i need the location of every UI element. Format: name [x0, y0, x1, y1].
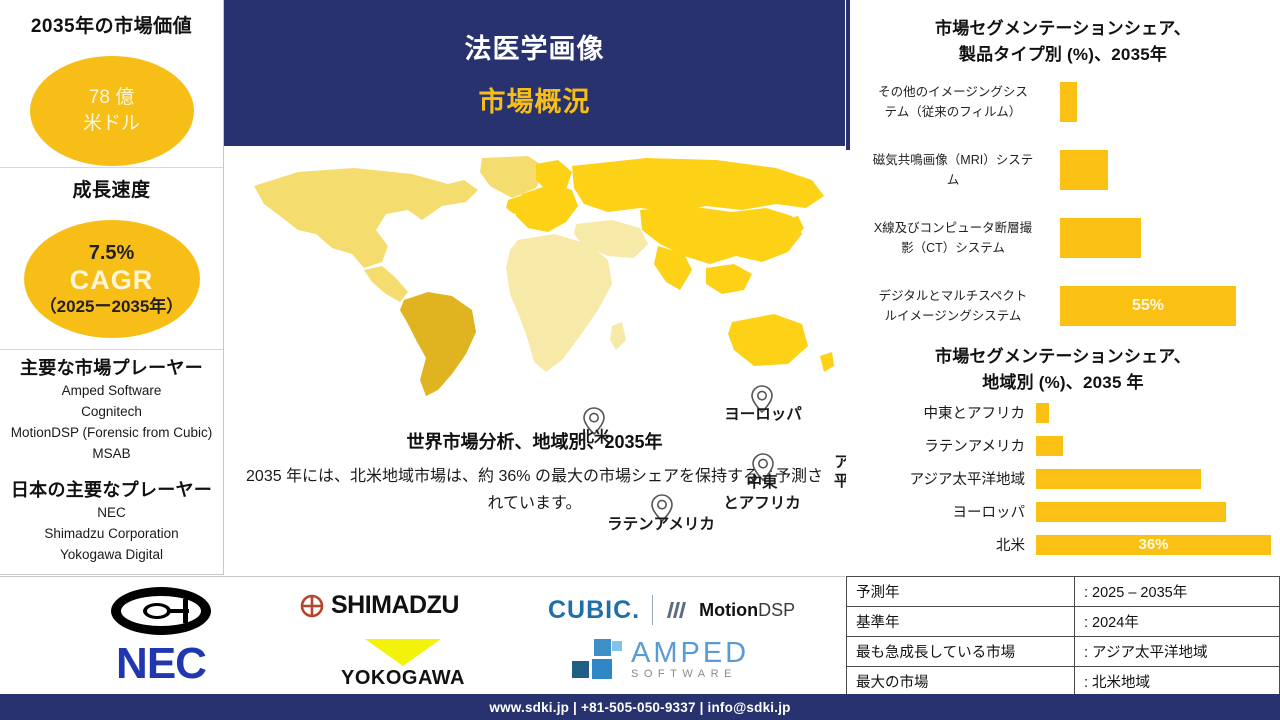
logo-nec: NEC	[86, 585, 236, 686]
world-map: 北米 ヨーロッパ アジア太 平洋地域 中東 とアフリカ ラテンアメリカ	[224, 150, 845, 422]
chart-category-label: ラテンアメリカ	[846, 435, 1036, 456]
japan-player-item: Yokogawa Digital	[0, 544, 223, 565]
table-row: 最も急成長している市場 : アジア太平洋地域	[847, 637, 1280, 667]
region-chart: 市場セグメンテーションシェア、 地域別 (%)、2035 年 中東とアフリカ ラ…	[846, 342, 1280, 561]
chart-category-label: X線及びコンピュータ断層撮 影（CT）システム	[846, 218, 1060, 258]
key-players-block: 主要な市場プレーヤー Amped Software Cognitech Moti…	[0, 350, 223, 472]
logo-cubic-motiondsp: CUBIC. MotionDSP	[548, 595, 795, 625]
chart-category-label: その他のイメージングシス テム（従来のフィルム）	[846, 82, 1060, 122]
map-region-madagascar	[610, 322, 626, 350]
growth-rate-title: 成長速度	[0, 168, 223, 202]
cubic-wordmark: CUBIC.	[548, 596, 640, 625]
chart-bar	[1060, 82, 1077, 122]
japan-player-item: Shimadzu Corporation	[0, 523, 223, 544]
motiondsp-wordmark: MotionDSP	[699, 600, 795, 621]
market-value-title: 2035年の市場価値	[0, 0, 223, 38]
map-region-africa	[506, 234, 612, 372]
table-cell-value: : 2024年	[1075, 607, 1280, 637]
chart-bar	[1036, 469, 1201, 489]
map-caption-title: 世界市場分析、地域別、2035年	[224, 428, 845, 454]
cagr-label: CAGR	[70, 265, 154, 296]
map-label-europe: ヨーロッパ	[684, 405, 842, 425]
chart-row: デジタルとマルチスペクト ルイメージングシステム 55%	[846, 272, 1280, 340]
cagr-value: 7.5%	[89, 241, 135, 265]
footer-contact-text: www.sdki.jp | +81-505-050-9337 | info@sd…	[489, 700, 790, 715]
amped-line1: AMPED	[631, 639, 749, 667]
yokogawa-mark-icon	[361, 635, 445, 667]
chart-category-label: ヨーロッパ	[846, 501, 1036, 522]
growth-rate-ellipse: 7.5% CAGR （2025ー2035年）	[24, 220, 200, 338]
chart-row: ヨーロッパ	[846, 495, 1280, 528]
map-region-north-america	[254, 168, 478, 268]
market-value-amount: 78 億	[89, 85, 134, 111]
chart-bar-value: 55%	[1060, 297, 1236, 315]
chart-bar	[1036, 403, 1049, 423]
motiondsp-bars-icon	[665, 600, 687, 620]
key-players-title: 主要な市場プレーヤー	[0, 350, 223, 380]
right-panel: 市場セグメンテーションシェア、 製品タイプ別 (%)、2035年 その他のイメー…	[846, 0, 1280, 575]
table-cell-value: : 北米地域	[1075, 667, 1280, 697]
logo-yokogawa: YOKOGAWA	[318, 635, 488, 690]
chart-row: 磁気共鳴画像（MRI）システ ム	[846, 136, 1280, 204]
infographic-page: 2035年の市場価値 78 億 米ドル 成長速度 7.5% CAGR （2025…	[0, 0, 1280, 720]
chart-title-line2: 地域別 (%)、2035 年	[846, 370, 1280, 396]
chart-row: 中東とアフリカ	[846, 396, 1280, 429]
chart-category-label: 磁気共鳴画像（MRI）システ ム	[846, 150, 1060, 190]
logo-amped-software: AMPED SOFTWARE	[572, 639, 749, 681]
chart-row: X線及びコンピュータ断層撮 影（CT）システム	[846, 204, 1280, 272]
nec-wordmark: NEC	[86, 642, 236, 686]
table-row: 基準年 : 2024年	[847, 607, 1280, 637]
table-row: 予測年 : 2025 – 2035年	[847, 577, 1280, 607]
chart-category-label: アジア太平洋地域	[846, 468, 1036, 489]
table-cell-value: : 2025 – 2035年	[1075, 577, 1280, 607]
chart-row: その他のイメージングシス テム（従来のフィルム）	[846, 68, 1280, 136]
summary-table: 予測年 : 2025 – 2035年 基準年 : 2024年 最も急成長している…	[846, 576, 1280, 697]
map-label-middle-east-africa-line2: とアフリカ	[703, 494, 821, 514]
shimadzu-wordmark: SHIMADZU	[331, 591, 459, 620]
map-region-new-zealand	[820, 352, 834, 372]
chart-bar	[1036, 436, 1063, 456]
chart-bar	[1036, 502, 1226, 522]
logo-divider	[652, 595, 653, 625]
table-cell-key: 基準年	[847, 607, 1075, 637]
shimadzu-mark-icon	[300, 594, 324, 618]
table-cell-key: 予測年	[847, 577, 1075, 607]
nec-mark-icon	[107, 585, 215, 637]
map-region-central-america	[364, 266, 408, 302]
map-region-australia	[728, 314, 808, 366]
yokogawa-wordmark: YOKOGAWA	[318, 667, 488, 690]
table-row: 最大の市場 : 北米地域	[847, 667, 1280, 697]
key-player-item: Cognitech	[0, 401, 223, 422]
map-region-scandinavia	[536, 160, 572, 192]
chart-bar	[1060, 150, 1108, 190]
key-player-item: Amped Software	[0, 380, 223, 401]
chart-bar	[1060, 218, 1141, 258]
chart-bar: 36%	[1036, 535, 1271, 555]
partner-logos: NEC SHIMADZU YOKOGAWA CUBIC. Mo	[0, 576, 845, 695]
chart-bar: 55%	[1060, 286, 1236, 326]
chart-title-line2: 製品タイプ別 (%)、2035年	[846, 42, 1280, 68]
table-cell-value: : アジア太平洋地域	[1075, 637, 1280, 667]
market-value-block: 2035年の市場価値 78 億 米ドル	[0, 0, 223, 168]
map-region-russia	[572, 158, 824, 212]
page-title: 法医学画像	[465, 27, 605, 66]
amped-squares-icon	[572, 639, 622, 681]
table-cell-key: 最も急成長している市場	[847, 637, 1075, 667]
market-value-currency: 米ドル	[83, 111, 140, 137]
page-subtitle: 市場概況	[479, 80, 591, 119]
japan-players-block: 日本の主要なプレーヤー NEC Shimadzu Corporation Yok…	[0, 472, 223, 575]
center-panel: 法医学画像 市場概況	[224, 0, 845, 575]
left-sidebar: 2035年の市場価値 78 億 米ドル 成長速度 7.5% CAGR （2025…	[0, 0, 224, 575]
growth-rate-block: 成長速度 7.5% CAGR （2025ー2035年）	[0, 168, 223, 350]
world-map-svg	[236, 150, 836, 400]
cagr-period: （2025ー2035年）	[40, 296, 184, 318]
japan-players-title: 日本の主要なプレーヤー	[0, 472, 223, 502]
map-label-north-america: 北米	[546, 428, 642, 448]
map-label-latin-america: ラテンアメリカ	[565, 515, 757, 535]
chart-category-label: 中東とアフリカ	[846, 402, 1036, 423]
region-chart-title: 市場セグメンテーションシェア、 地域別 (%)、2035 年	[846, 342, 1280, 396]
key-player-item: MotionDSP (Forensic from Cubic)	[0, 422, 223, 443]
amped-line2: SOFTWARE	[631, 667, 749, 681]
product-type-chart-title: 市場セグメンテーションシェア、 製品タイプ別 (%)、2035年	[846, 16, 1280, 68]
table-cell-key: 最大の市場	[847, 667, 1075, 697]
hero-banner: 法医学画像 市場概況	[224, 0, 845, 146]
map-region-latin-america	[400, 292, 476, 396]
market-value-ellipse: 78 億 米ドル	[30, 56, 194, 166]
japan-player-item: NEC	[0, 502, 223, 523]
map-region-sea	[706, 264, 752, 294]
chart-bar-value: 36%	[1036, 536, 1271, 553]
footer-bar: www.sdki.jp | +81-505-050-9337 | info@sd…	[0, 694, 1280, 720]
chart-category-label: 北米	[846, 534, 1036, 555]
amped-wordmark: AMPED SOFTWARE	[631, 639, 749, 681]
chart-row: ラテンアメリカ	[846, 429, 1280, 462]
chart-row: アジア太平洋地域	[846, 462, 1280, 495]
chart-title-line1: 市場セグメンテーションシェア、	[846, 344, 1280, 370]
chart-category-label: デジタルとマルチスペクト ルイメージングシステム	[846, 286, 1060, 326]
map-label-middle-east-africa-line1: 中東	[703, 473, 821, 493]
chart-row: 北米 36%	[846, 528, 1280, 561]
key-player-item: MSAB	[0, 443, 223, 464]
logo-shimadzu: SHIMADZU	[300, 591, 459, 620]
chart-title-line1: 市場セグメンテーションシェア、	[846, 16, 1280, 42]
product-type-chart: 市場セグメンテーションシェア、 製品タイプ別 (%)、2035年 その他のイメー…	[846, 0, 1280, 340]
